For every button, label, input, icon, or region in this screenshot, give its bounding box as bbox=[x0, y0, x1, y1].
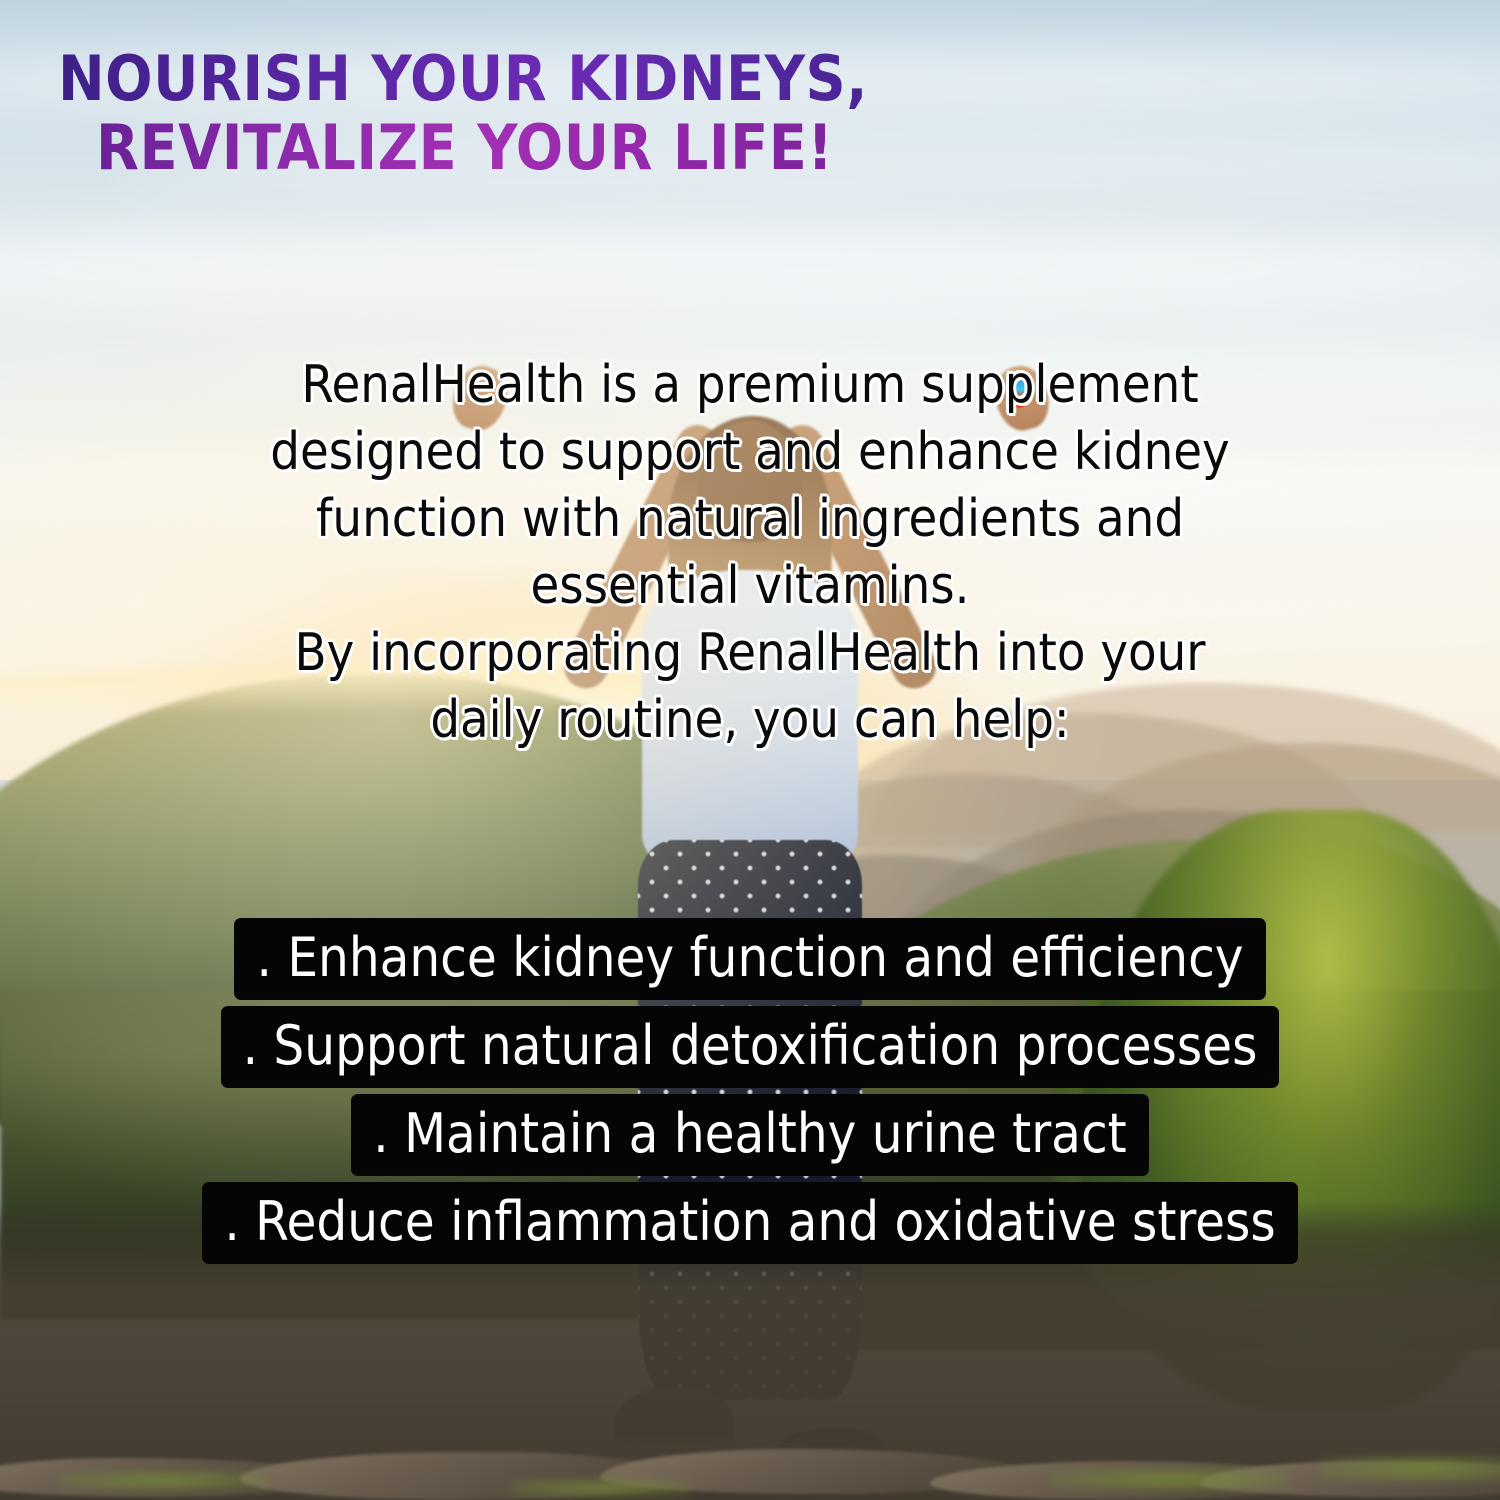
benefit-item: . Support natural detoxification process… bbox=[221, 1006, 1280, 1088]
benefit-item: . Reduce inflammation and oxidative stre… bbox=[202, 1182, 1297, 1264]
body-line-5: By incorporating RenalHealth into your bbox=[240, 620, 1260, 687]
headline: NOURISH YOUR KIDNEYS, REVITALIZE YOUR LI… bbox=[58, 44, 1158, 183]
body-line-1: RenalHealth is a premium supplement bbox=[240, 352, 1260, 419]
moss-patch bbox=[510, 1479, 690, 1497]
headline-line-2: REVITALIZE YOUR LIFE! bbox=[96, 113, 1158, 182]
body-copy: RenalHealth is a premium supplement desi… bbox=[240, 352, 1260, 754]
body-line-2: designed to support and enhance kidney bbox=[240, 419, 1260, 486]
body-line-6: daily routine, you can help: bbox=[240, 687, 1260, 754]
headline-line-1: NOURISH YOUR KIDNEYS, bbox=[58, 44, 1158, 113]
body-line-4: essential vitamins. bbox=[240, 553, 1260, 620]
benefit-item: . Enhance kidney function and efficiency bbox=[234, 918, 1265, 1000]
moss-patch bbox=[1050, 1467, 1290, 1491]
promo-poster: NOURISH YOUR KIDNEYS, REVITALIZE YOUR LI… bbox=[0, 0, 1500, 1500]
body-line-3: function with natural ingredients and bbox=[240, 486, 1260, 553]
moss-patch bbox=[60, 1470, 270, 1491]
benefit-item: . Maintain a healthy urine tract bbox=[351, 1094, 1148, 1176]
benefits-list: . Enhance kidney function and efficiency… bbox=[0, 918, 1500, 1264]
moss-patch bbox=[1320, 1455, 1500, 1482]
